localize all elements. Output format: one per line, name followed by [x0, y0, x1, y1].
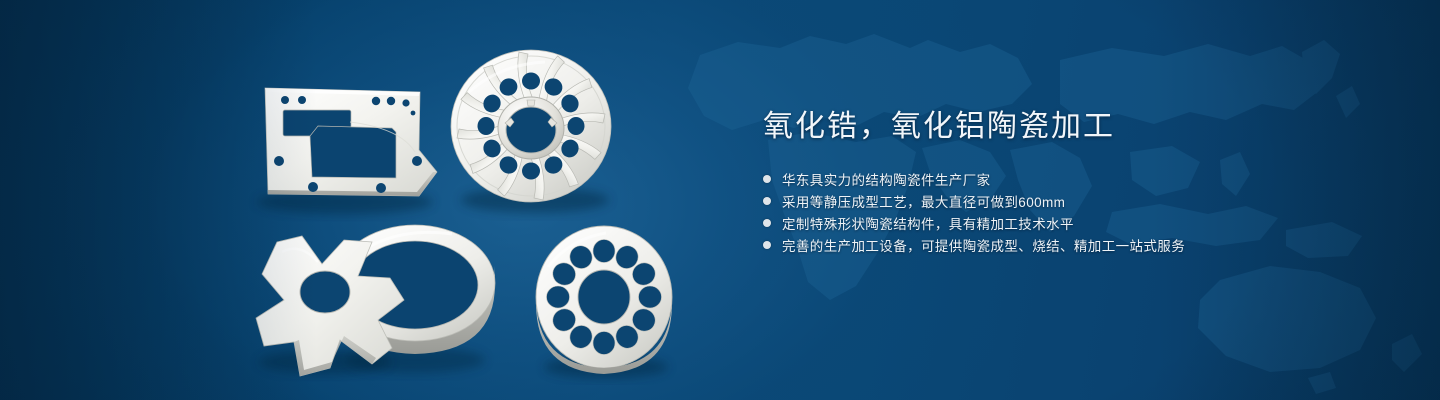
- list-item-label: 华东具实力的结构陶瓷件生产厂家: [782, 169, 991, 189]
- list-item-label: 定制特殊形状陶瓷结构件，具有精加工技术水平: [782, 213, 1074, 233]
- banner-headline: 氧化锆，氧化铝陶瓷加工: [763, 108, 1383, 146]
- bullet-dot-icon: [763, 197, 771, 205]
- feature-list: 华东具实力的结构陶瓷件生产厂家 采用等静压成型工艺，最大直径可做到600mm 定…: [763, 168, 1383, 256]
- bullet-dot-icon: [763, 175, 771, 183]
- hero-banner: 氧化锆，氧化铝陶瓷加工 华东具实力的结构陶瓷件生产厂家 采用等静压成型工艺，最大…: [0, 0, 1440, 400]
- bullet-dot-icon: [763, 219, 771, 227]
- list-item: 定制特殊形状陶瓷结构件，具有精加工技术水平: [763, 212, 1383, 234]
- list-item-label: 采用等静压成型工艺，最大直径可做到600mm: [782, 191, 1065, 211]
- list-item-label: 完善的生产加工设备，可提供陶瓷成型、烧结、精加工一站式服务: [782, 235, 1185, 255]
- list-item: 采用等静压成型工艺，最大直径可做到600mm: [763, 190, 1383, 212]
- list-item: 华东具实力的结构陶瓷件生产厂家: [763, 168, 1383, 190]
- banner-copy: 氧化锆，氧化铝陶瓷加工 华东具实力的结构陶瓷件生产厂家 采用等静压成型工艺，最大…: [763, 108, 1383, 256]
- list-item: 完善的生产加工设备，可提供陶瓷成型、烧结、精加工一站式服务: [763, 234, 1383, 256]
- bullet-dot-icon: [763, 241, 771, 249]
